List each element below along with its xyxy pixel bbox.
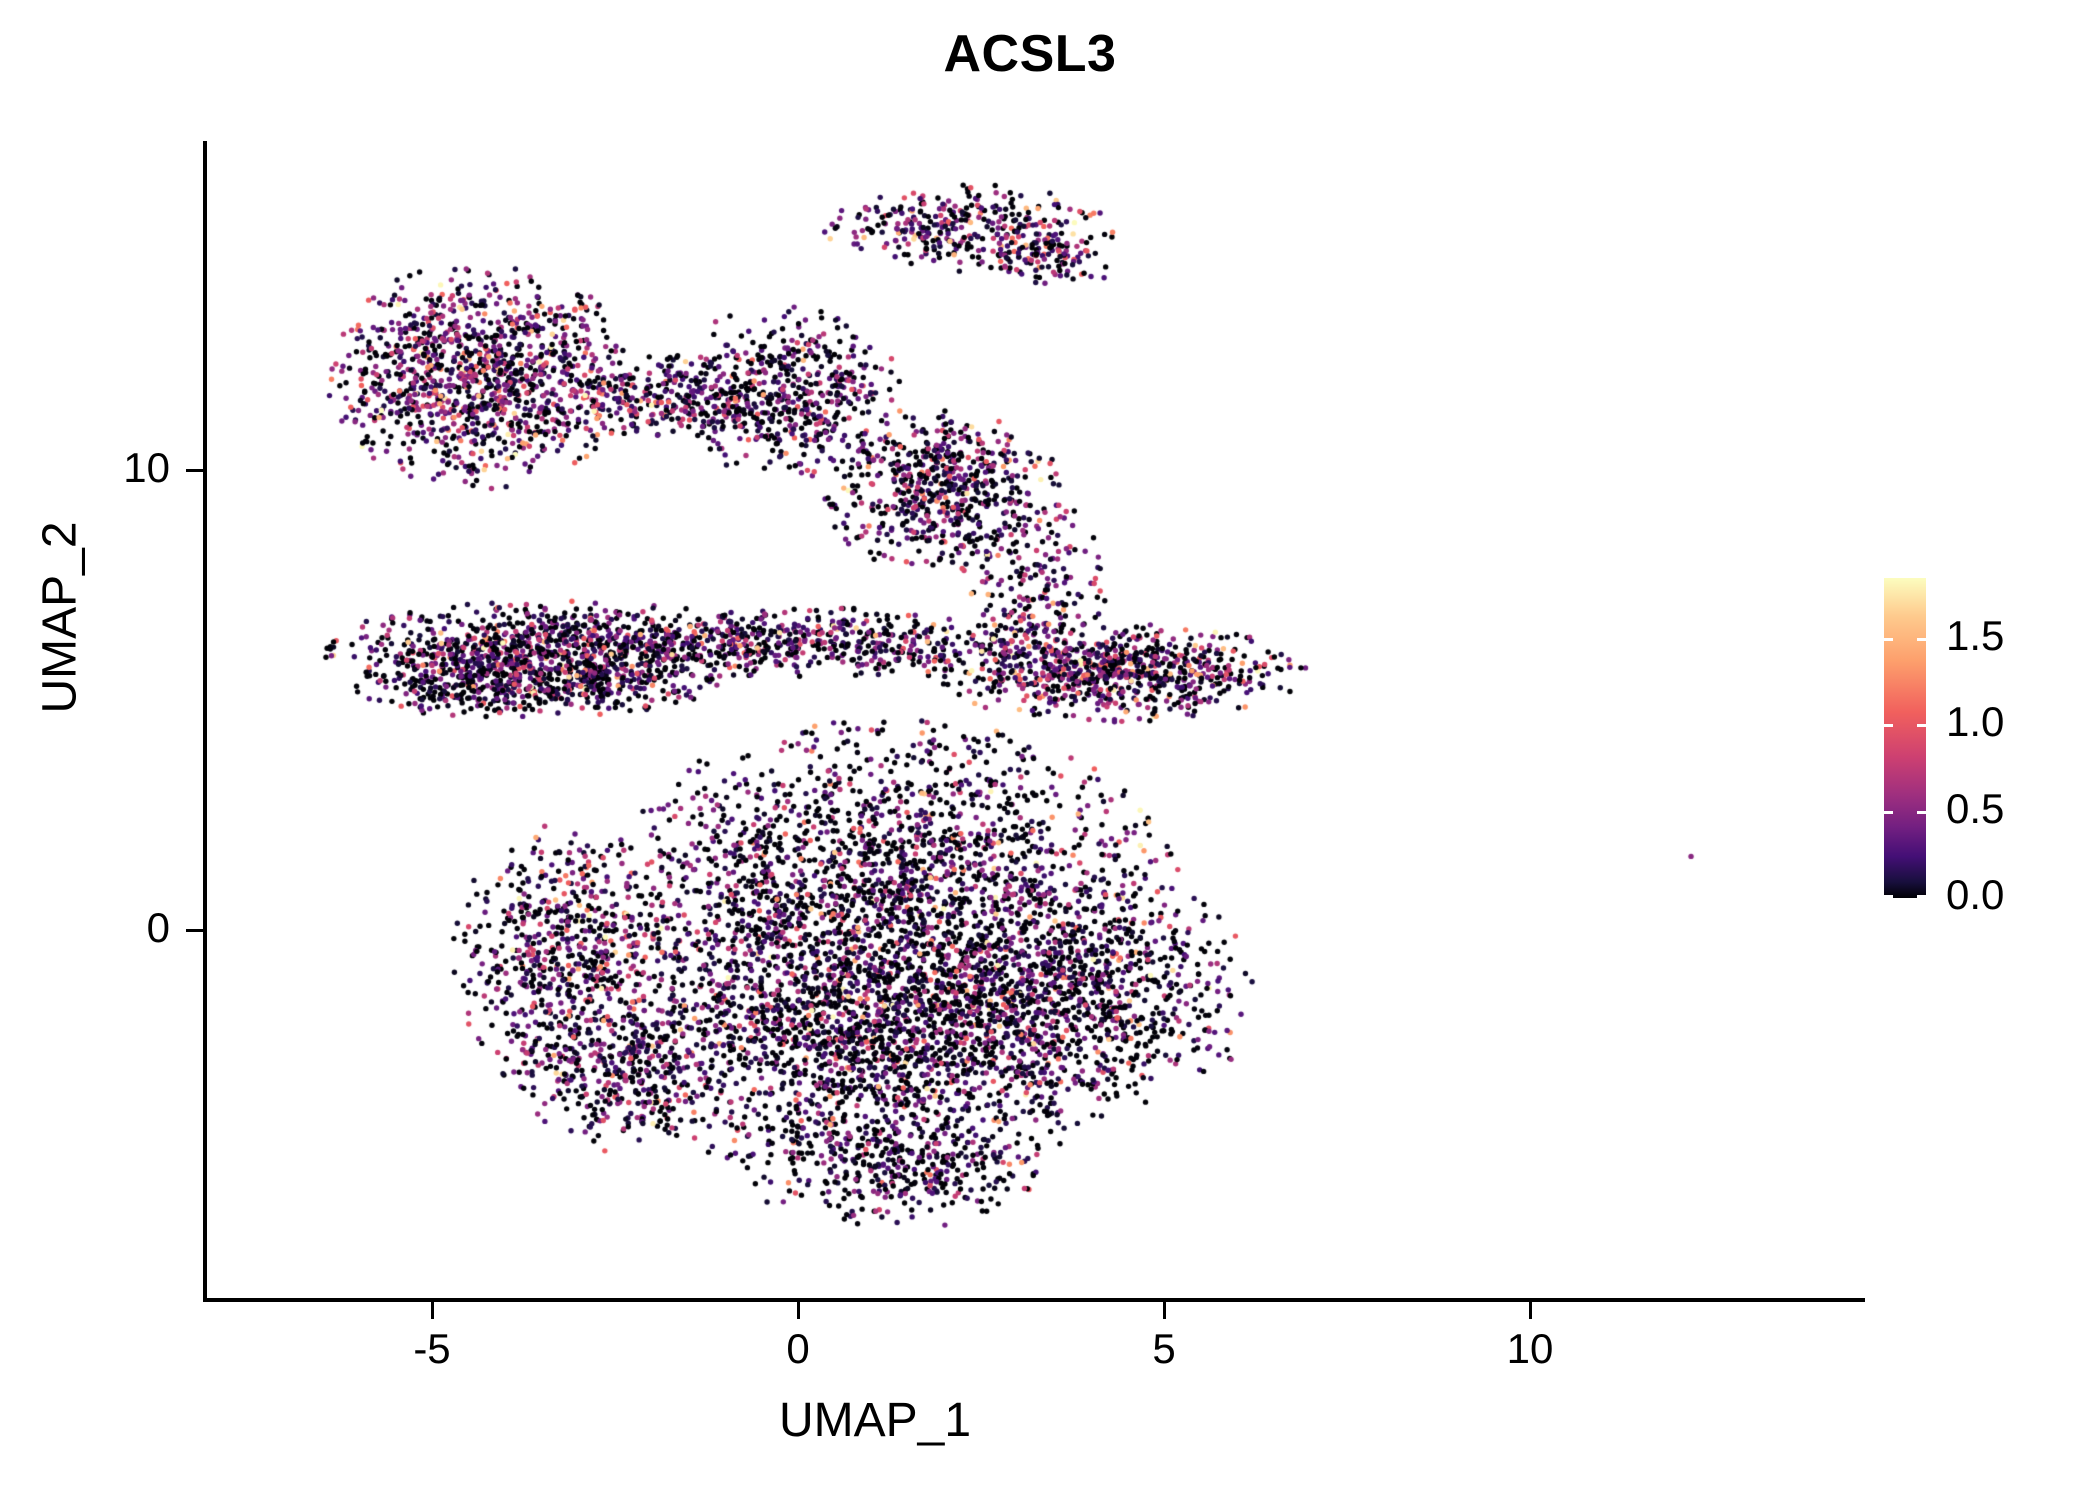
x-tick-label: 5 <box>1084 1325 1244 1373</box>
colorbar-tick-mark <box>1884 811 1893 814</box>
colorbar-tick-mark <box>1884 724 1893 727</box>
y-axis-title: UMAP_2 <box>33 298 88 938</box>
x-tick-label: 10 <box>1450 1325 1610 1373</box>
x-axis-title: UMAP_1 <box>205 1393 1545 1448</box>
colorbar-tick-mark <box>1917 895 1926 898</box>
y-tick-mark <box>186 929 203 932</box>
colorbar-tick-label: 1.5 <box>1946 612 2004 660</box>
y-tick-mark <box>186 469 203 472</box>
colorbar-gradient <box>1884 578 1926 898</box>
colorbar-tick-label: 0.5 <box>1946 785 2004 833</box>
x-tick-mark <box>1163 1302 1166 1319</box>
colorbar-tick-label: 0.0 <box>1946 871 2004 919</box>
umap-feature-plot: ACSL3 -50510 010 UMAP_1 UMAP_2 1.51.00.5… <box>0 0 2100 1500</box>
colorbar-tick-mark <box>1917 811 1926 814</box>
x-tick-mark <box>1529 1302 1532 1319</box>
x-tick-mark <box>431 1302 434 1319</box>
x-axis-line <box>203 1298 1865 1302</box>
colorbar-tick-mark <box>1884 638 1893 641</box>
x-tick-mark <box>797 1302 800 1319</box>
colorbar-tick-mark <box>1884 895 1893 898</box>
plot-panel <box>205 141 1865 1300</box>
x-tick-label: -5 <box>352 1325 512 1373</box>
page-title: ACSL3 <box>0 24 2060 84</box>
x-tick-label: 0 <box>718 1325 878 1373</box>
y-axis-line <box>203 141 207 1302</box>
colorbar-tick-mark <box>1917 638 1926 641</box>
colorbar-tick-label: 1.0 <box>1946 698 2004 746</box>
scatter-plot-canvas <box>205 141 1865 1300</box>
colorbar-tick-mark <box>1917 724 1926 727</box>
